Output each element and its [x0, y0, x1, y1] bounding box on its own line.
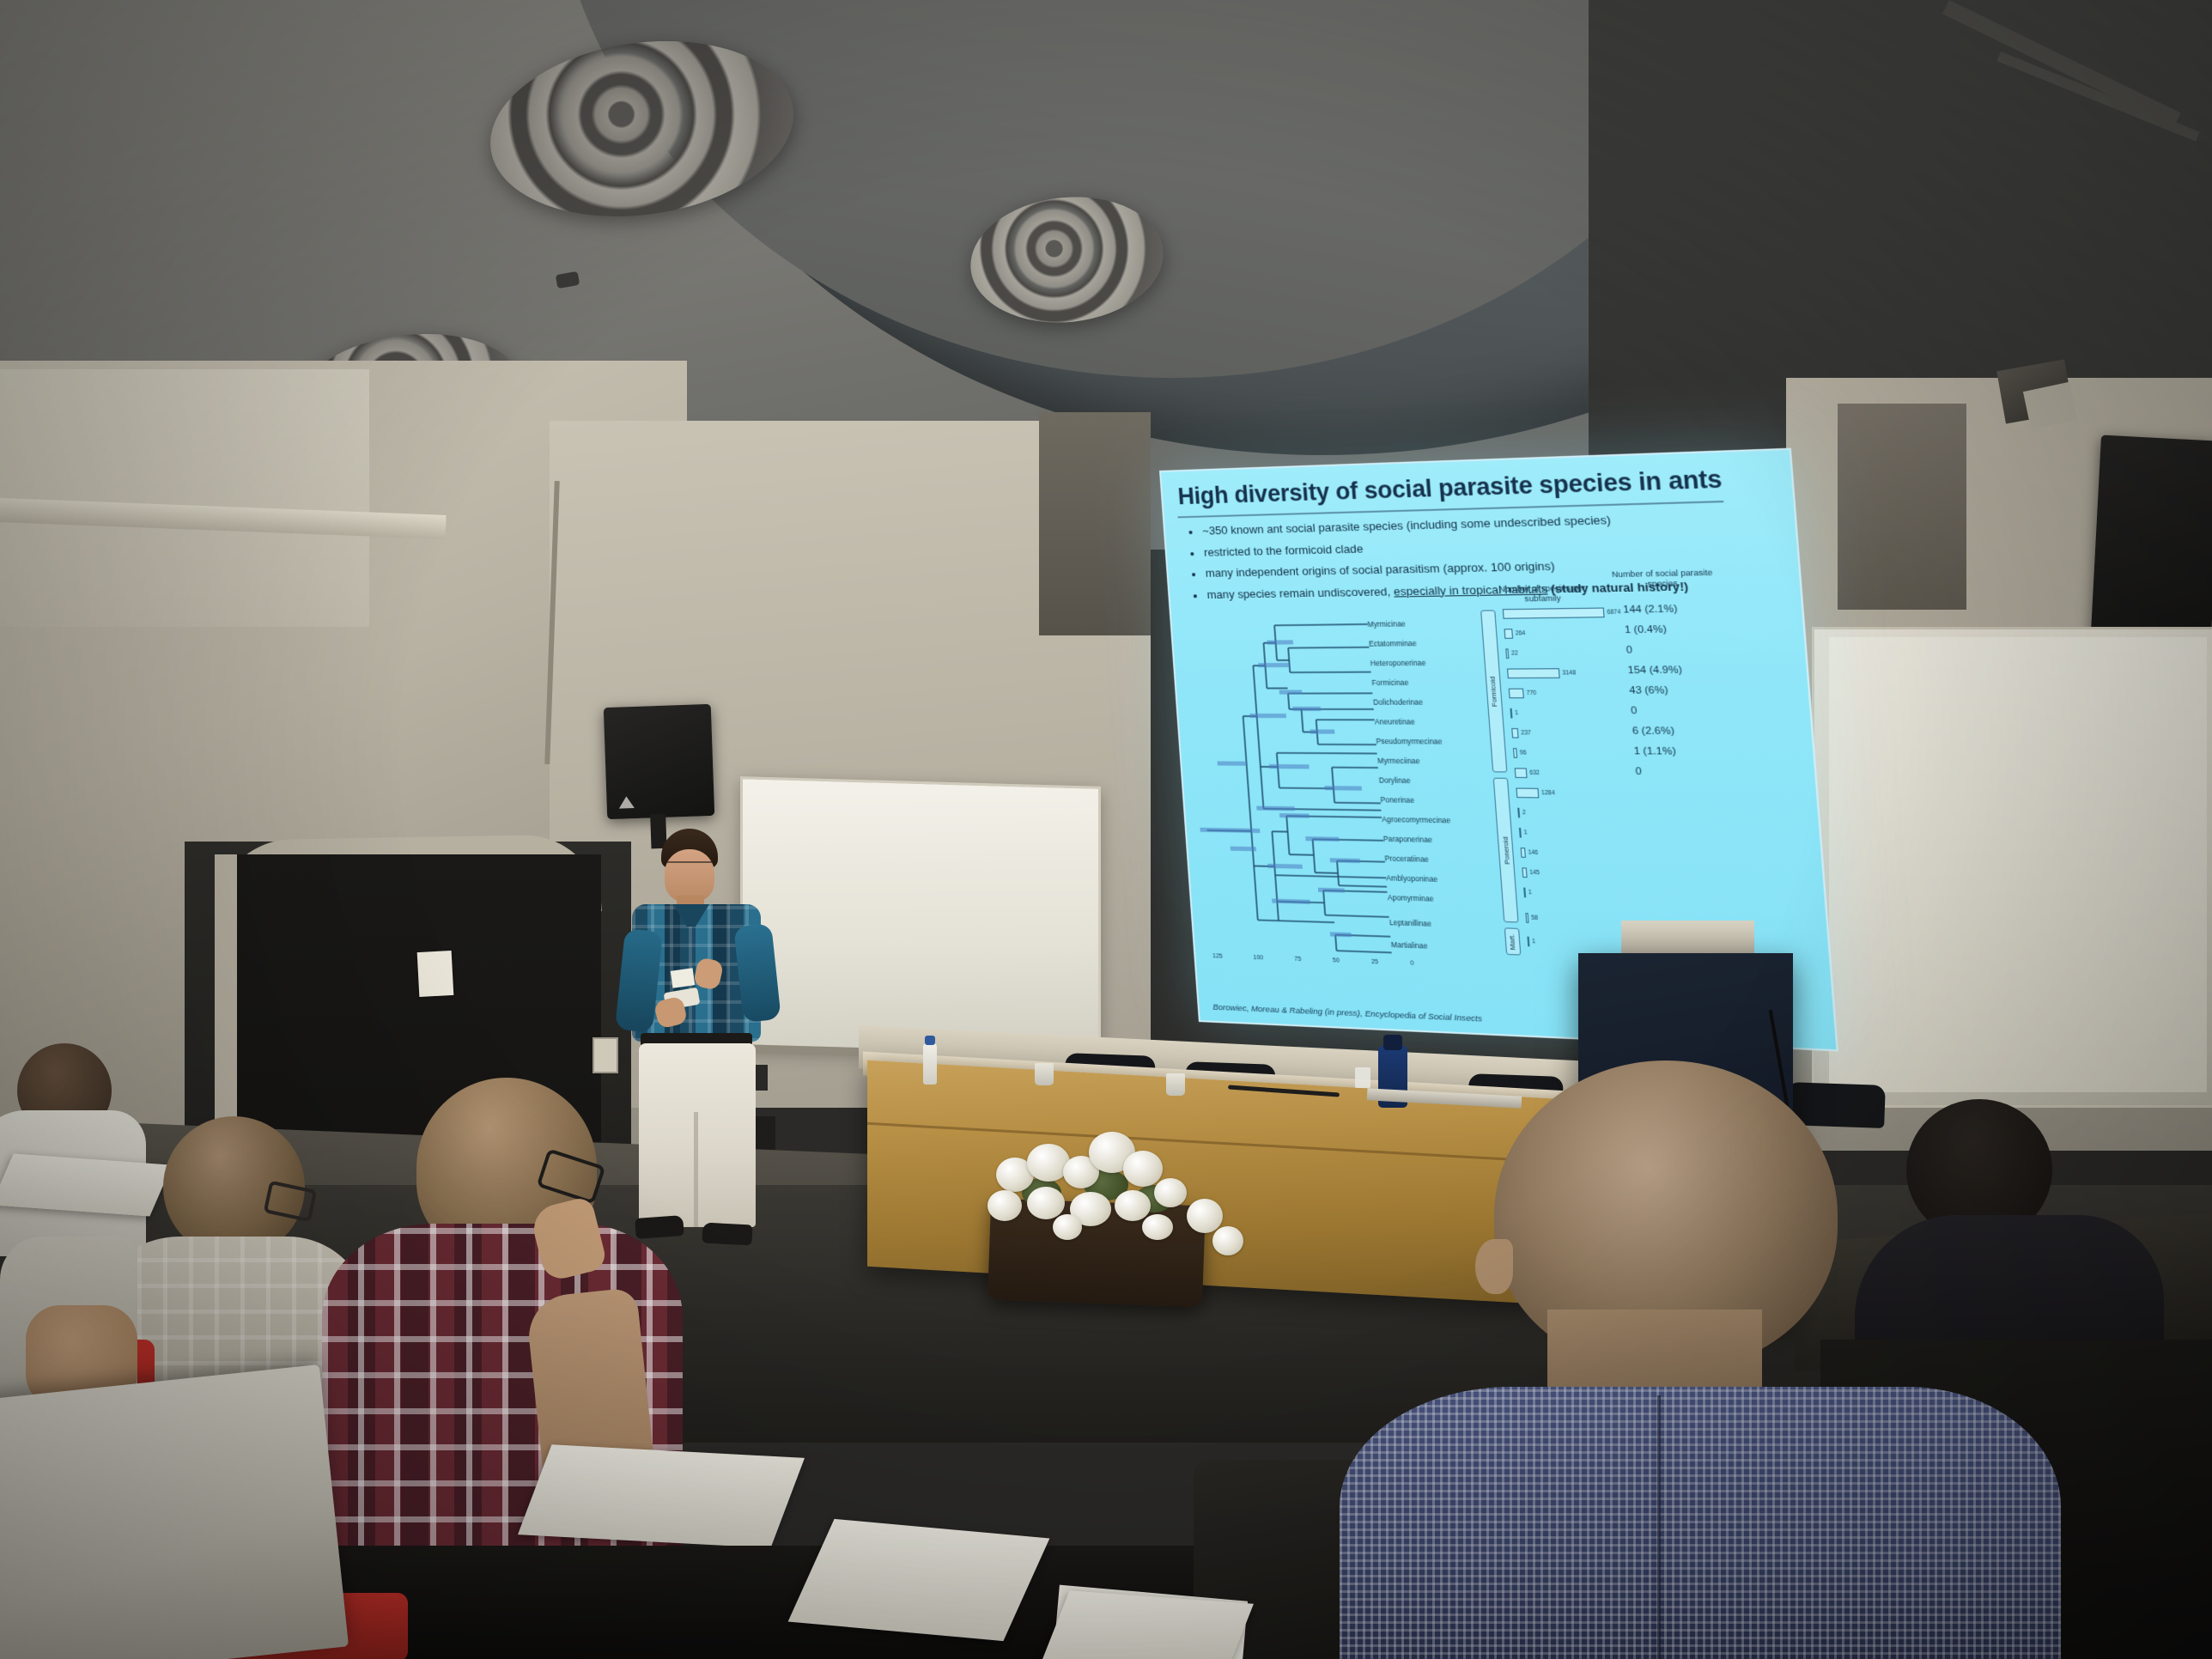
parasite-count: 1 (1.1%) — [1633, 746, 1676, 757]
tip-label: Leptanillinae — [1389, 918, 1432, 928]
bar-value: 2 — [1522, 809, 1526, 815]
parasite-count: 43 (6%) — [1629, 685, 1668, 696]
bar-value: 264 — [1516, 630, 1526, 636]
lecture-hall-photo: High diversity of social parasite specie… — [0, 0, 2212, 1659]
speaker-cone-icon — [618, 796, 634, 809]
tip-label: Proceratiinae — [1384, 854, 1429, 863]
tip-label: Paraponerinae — [1383, 835, 1433, 844]
flower-icon — [1142, 1214, 1173, 1240]
presenter-face — [665, 849, 714, 902]
clade-bracket-label: Mart. — [1508, 933, 1517, 950]
parasite-count: 0 — [1635, 766, 1642, 777]
bar-value: 632 — [1529, 769, 1540, 775]
tip-label: Aneuretinae — [1374, 717, 1414, 726]
axis-tick: 50 — [1333, 957, 1340, 963]
clade-bracket-label: Formicoid — [1489, 676, 1499, 706]
axis-tick: 75 — [1294, 957, 1301, 963]
flower-icon — [1027, 1187, 1065, 1219]
laptop-foreground — [0, 1364, 349, 1659]
parasite-count: 154 (4.9%) — [1627, 665, 1682, 676]
bar-value: 96 — [1520, 750, 1527, 756]
bar-value: 237 — [1521, 730, 1531, 736]
bar-value: 22 — [1511, 650, 1518, 656]
phylogenetic-tree: Myrmicinae Ectatomminae Heteroponerinae … — [1183, 611, 1499, 962]
tip-label: Ponerinae — [1380, 795, 1414, 805]
wall-panel-right-inner — [1829, 637, 2207, 1092]
bar-value: 1284 — [1541, 789, 1555, 796]
slide-bullet-list: ~350 known ant social parasite species (… — [1183, 508, 1777, 609]
tip-label: Myrmeciinae — [1377, 757, 1420, 766]
bar-value: 146 — [1528, 849, 1538, 856]
parasite-count: 1 (0.4%) — [1625, 624, 1668, 635]
drinking-glass — [1035, 1063, 1054, 1085]
podium-ledge — [1621, 921, 1754, 957]
presenter-glasses-icon — [666, 861, 713, 870]
bar-value: 1 — [1532, 938, 1535, 945]
flask-lid — [1383, 1035, 1402, 1050]
whiteboard — [740, 776, 1101, 1057]
clade-bracket-martialis: Mart. — [1504, 927, 1522, 955]
wall-recess — [1838, 404, 1966, 610]
axis-tick: 0 — [1410, 960, 1414, 966]
tip-label: Martialinae — [1391, 940, 1428, 951]
shirt — [1340, 1387, 2061, 1659]
tip-label: Apomyrminae — [1388, 893, 1434, 903]
water-bottle — [923, 1043, 937, 1085]
ear — [1475, 1239, 1513, 1294]
tablet-arm-desk — [1039, 1590, 1254, 1659]
bar-value: 1 — [1523, 829, 1527, 836]
bar-value: 1 — [1515, 709, 1518, 715]
tip-label: Dorylinae — [1378, 775, 1410, 785]
parasite-count: 6 (2.6%) — [1632, 726, 1675, 737]
tip-label: Myrmicinae — [1367, 619, 1406, 629]
column-header-parasites: Number of social parasite species — [1608, 568, 1717, 589]
axis-tick: 100 — [1253, 955, 1263, 962]
flower-icon — [987, 1190, 1022, 1221]
flower-icon — [1053, 1214, 1082, 1240]
bar-value: 6874 — [1607, 609, 1620, 616]
audience-member-front-blue-check — [1314, 1060, 2087, 1659]
axis-tick: 25 — [1371, 959, 1379, 966]
tip-label: Pseudomyrmecinae — [1376, 737, 1443, 746]
shirt-seam — [1657, 1395, 1661, 1659]
parasite-count: 144 (2.1%) — [1623, 604, 1678, 616]
tablet-arm-desk — [788, 1519, 1050, 1641]
bar-value: 1 — [1528, 889, 1532, 896]
tip-label: Ectatomminae — [1369, 639, 1417, 648]
tip-label: Amblyoponinae — [1386, 873, 1438, 884]
bar-value: 58 — [1531, 915, 1538, 921]
tip-label: Formicinae — [1371, 678, 1409, 688]
wall-left-upper — [0, 369, 369, 627]
tip-label: Dolichoderinae — [1373, 697, 1424, 706]
clade-bracket-label: Poneroid — [1501, 836, 1511, 864]
wall-recess — [1039, 412, 1151, 635]
presenter-name-badge — [671, 968, 696, 987]
flower-icon — [1187, 1199, 1223, 1233]
tip-label: Agroecomyrmecinae — [1382, 815, 1451, 825]
slide-citation: Borowiec, Moreau & Rabeling (in press), … — [1212, 1003, 1482, 1024]
bullet-plain-text: many species remain undiscovered, — [1206, 585, 1395, 601]
wall-speaker-icon — [604, 704, 714, 819]
parasite-count: 0 — [1631, 706, 1638, 717]
wall-notice — [417, 951, 454, 997]
tablet-arm-desk — [518, 1444, 805, 1548]
flower-icon — [1123, 1151, 1163, 1187]
tip-label: Heteroponerinae — [1370, 659, 1425, 668]
bar-value: 145 — [1529, 869, 1540, 876]
flower-icon — [1154, 1178, 1187, 1207]
bar-value: 3148 — [1562, 670, 1576, 677]
species-bar-chart: 6874 264 22 3148 770 1 237 96 632 1284 2… — [1502, 603, 1642, 962]
bottle-cap — [925, 1036, 935, 1045]
drinking-glass — [1166, 1073, 1185, 1096]
parasite-count: 0 — [1626, 645, 1632, 656]
bar-value: 770 — [1526, 690, 1536, 696]
node-confidence-bars — [1187, 640, 1373, 938]
column-header-species: Number of species per subfamily — [1486, 583, 1599, 604]
flower-icon — [1212, 1226, 1243, 1255]
flower-icon — [1115, 1190, 1151, 1221]
axis-tick: 125 — [1212, 953, 1223, 960]
